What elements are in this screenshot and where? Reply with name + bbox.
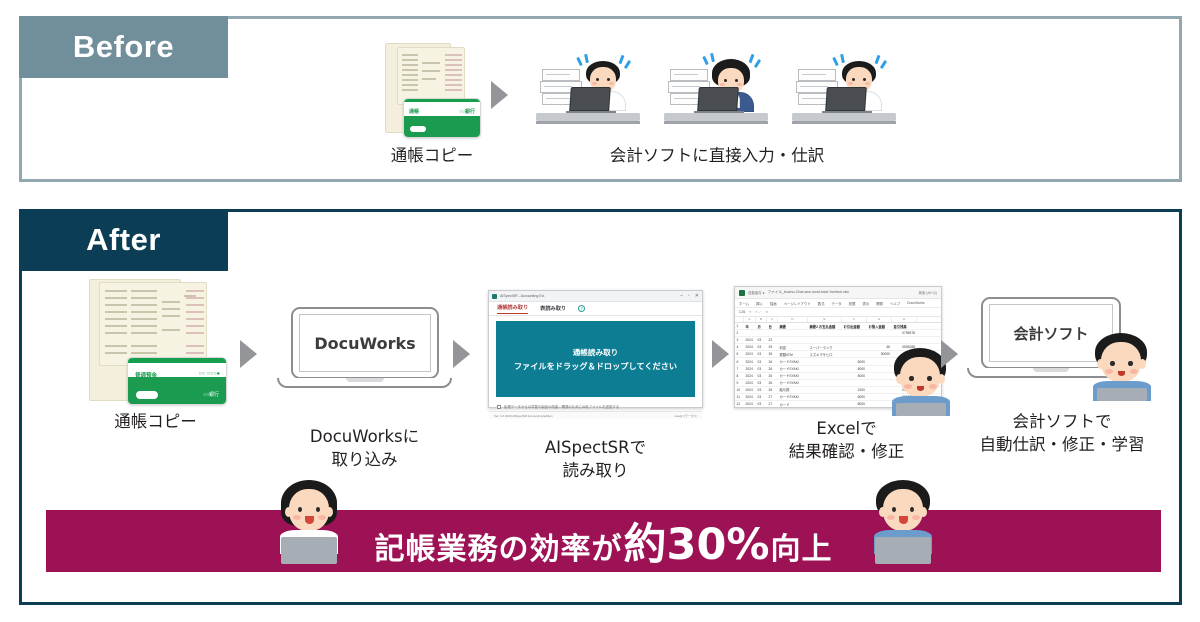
excel-row-number[interactable]: 2 xyxy=(735,331,744,335)
triangle-right-icon-3 xyxy=(712,340,729,368)
close-icon[interactable]: ✕ xyxy=(695,293,699,299)
excel-cell[interactable]: 26 xyxy=(767,367,778,371)
tab-table-read[interactable]: 表読み取り xyxy=(540,305,566,312)
dropzone-line2: ファイルをドラッグ＆ドロップしてください xyxy=(514,360,677,372)
excel-cell[interactable]: 2024 xyxy=(744,352,756,356)
excel-column-header[interactable]: B xyxy=(756,317,767,322)
excel-data-row[interactable]: 20755578 xyxy=(735,330,941,337)
tired-worker-1 xyxy=(534,53,644,133)
result-banner: 記帳業務の効率が 約30% 向上 xyxy=(46,510,1161,572)
excel-cell[interactable]: 26 xyxy=(767,374,778,378)
excel-cell[interactable]: 2200 xyxy=(842,388,867,392)
triangle-right-icon xyxy=(491,81,508,109)
window-controls[interactable]: – ▫ ✕ xyxy=(680,293,699,299)
excel-cell[interactable]: 2024 xyxy=(744,360,756,364)
excel-column-header[interactable]: D xyxy=(778,317,808,322)
send-data-checkbox[interactable] xyxy=(497,405,501,409)
excel-cell[interactable]: 8000 xyxy=(842,367,867,371)
excel-cell[interactable]: スーパーランク xyxy=(808,345,842,350)
excel-search-box[interactable]: 検索 (Alt+Q) xyxy=(918,290,937,295)
excel-cell[interactable]: 振替ATM xyxy=(778,352,808,357)
ribbon-tab-4[interactable]: 数式 xyxy=(818,301,825,306)
banner-number: 約30% xyxy=(623,510,771,572)
excel-row-number[interactable]: 3 xyxy=(735,338,744,342)
excel-header-cell[interactable]: 差引残高 xyxy=(892,324,917,329)
aispectsr-tabs[interactable]: 通帳読み取り 表読み取り ? xyxy=(489,302,702,316)
tired-worker-2 xyxy=(662,53,772,133)
excel-cell[interactable]: 03 xyxy=(756,352,767,356)
after-panel: After xyxy=(19,209,1182,605)
excel-cell[interactable]: カードSYAKI xyxy=(778,394,808,399)
excel-cell[interactable]: 25 xyxy=(767,345,778,349)
excel-cell[interactable]: 2024 xyxy=(744,367,756,371)
excel-cell[interactable]: 03 xyxy=(756,360,767,364)
person-using-accounting-software xyxy=(1085,333,1160,399)
before-caption-1: 会計ソフトに直接入力・仕訳 xyxy=(610,145,825,168)
excel-cell[interactable]: カードSYAKI xyxy=(778,380,808,385)
bank-card-illustration-2: 普通預金 ○○ ○○○● ○○銀行 xyxy=(127,357,227,405)
ribbon-tab-7[interactable]: 表示 xyxy=(862,301,869,306)
excel-cell[interactable]: 利息 xyxy=(778,345,808,350)
excel-column-header[interactable]: F xyxy=(842,317,867,322)
aispectsr-window[interactable]: AISpectSR - Accounting Ed. – ▫ ✕ 通帳読み取り … xyxy=(488,290,703,408)
banner-man-with-laptop xyxy=(872,480,934,572)
before-caption-0: 通帳コピー xyxy=(391,145,474,168)
excel-cell[interactable]: 8000 xyxy=(842,374,867,378)
excel-cell[interactable]: 2024 xyxy=(744,388,756,392)
excel-cell[interactable]: 26 xyxy=(767,352,778,356)
autosave-toggle[interactable]: 自動保存 ● xyxy=(748,290,765,295)
excel-cell[interactable]: 2024 xyxy=(744,381,756,385)
excel-data-row[interactable]: 320240322 xyxy=(735,337,941,344)
tired-worker-3 xyxy=(790,53,900,133)
excel-cell[interactable]: 8000 xyxy=(842,402,867,406)
excel-row-number[interactable]: 8 xyxy=(735,374,744,378)
excel-logo-icon xyxy=(739,290,745,296)
excel-row-number[interactable]: 5 xyxy=(735,352,744,356)
ribbon-tab-10[interactable]: DocuWorks xyxy=(907,301,924,305)
ribbon-tab-3[interactable]: ページレイアウト xyxy=(784,301,811,306)
after-step-excel: 自動保存 ● ファイル_tsucho-Chat-sew-word-total-Y… xyxy=(734,286,959,464)
banner-text: 記帳業務の効率が 約30% 向上 xyxy=(375,510,833,572)
excel-cell[interactable]: 2024 xyxy=(744,338,756,342)
excel-header-cell[interactable]: お引出金額 xyxy=(842,324,867,329)
after-step-passbook: 普通預金 ○○ ○○○● ○○銀行 通帳コピー xyxy=(78,279,233,434)
excel-row-number[interactable]: 11 xyxy=(735,395,744,399)
excel-cell[interactable]: 26 xyxy=(767,381,778,385)
excel-cell[interactable]: 27 xyxy=(767,402,778,406)
ribbon-tab-1[interactable]: 挿入 xyxy=(756,301,763,306)
excel-cell[interactable]: 03 xyxy=(756,374,767,378)
banner-woman-with-laptop xyxy=(278,480,340,572)
excel-cell[interactable]: カード xyxy=(778,402,808,407)
excel-cell[interactable]: 03 xyxy=(756,338,767,342)
ribbon-tab-2[interactable]: 描画 xyxy=(770,301,777,306)
excel-titlebar: 自動保存 ● ファイル_tsucho-Chat-sew-word-total-Y… xyxy=(735,287,941,299)
ribbon-tab-9[interactable]: ヘルプ xyxy=(890,301,900,306)
ribbon-tab-6[interactable]: 校閲 xyxy=(849,301,856,306)
three-tired-workers-illustration xyxy=(534,53,900,133)
excel-column-header[interactable]: C xyxy=(767,317,778,322)
triangle-right-icon-4 xyxy=(941,340,958,368)
excel-row-number[interactable]: 9 xyxy=(735,381,744,385)
excel-cell[interactable]: 03 xyxy=(756,395,767,399)
app-logo-icon xyxy=(492,294,497,299)
after-caption-0: 通帳コピー xyxy=(114,411,197,434)
excel-formula-bar[interactable]: C26 ▾ ✕ ✓ fx xyxy=(735,308,941,317)
aispectsr-footer[interactable]: 処理データからの学習や製品の改善・開発のためにAI用ファイルを送信する xyxy=(489,402,702,411)
excel-cell[interactable]: スズキマサヒロ xyxy=(808,352,842,357)
laptop-screen-label-docuworks: DocuWorks xyxy=(314,334,415,353)
excel-cell[interactable]: カードSYAKI xyxy=(778,359,808,364)
excel-ribbon-tabs[interactable]: ホーム 挿入 描画 ページレイアウト 数式 データ 校閲 表示 開発 ヘルプ D… xyxy=(735,299,941,308)
passbook-page-front-2 xyxy=(99,282,207,366)
excel-column-header[interactable]: A xyxy=(744,317,756,322)
excel-column-header[interactable]: G xyxy=(867,317,892,322)
dropzone-line1: 通帳読み取り xyxy=(573,347,619,358)
laptop-illustration-docuworks: DocuWorks xyxy=(277,307,452,392)
before-step-passbook: 通帳 ○○銀行 通帳コピー xyxy=(362,43,502,168)
after-step-docuworks: DocuWorks DocuWorksに 取り込み xyxy=(277,307,452,472)
excel-header-cell[interactable]: 月 xyxy=(756,324,767,329)
excel-cell[interactable]: 03 xyxy=(756,345,767,349)
excel-cell[interactable]: 03 xyxy=(756,388,767,392)
status-left: Ver. 1.0 2023 AISpectSR Accounting Editi… xyxy=(494,414,553,418)
after-caption-3: Excelで 結果確認・修正 xyxy=(789,418,905,464)
excel-header-cell[interactable]: 摘要 xyxy=(778,324,808,329)
tab-passbook-read[interactable]: 通帳読み取り xyxy=(497,304,528,314)
ribbon-tab-0[interactable]: ホーム xyxy=(739,301,749,306)
excel-cell[interactable]: 03 xyxy=(756,367,767,371)
excel-cell[interactable]: 27 xyxy=(767,395,778,399)
file-dropzone[interactable]: 通帳読み取り ファイルをドラッグ＆ドロップしてください xyxy=(496,321,695,397)
excel-header-cell[interactable]: 日 xyxy=(767,324,778,329)
excel-row-number[interactable]: 4 xyxy=(735,345,744,349)
after-caption-2: AISpectSRで 読み取り xyxy=(545,437,646,483)
after-caption-1: DocuWorksに 取り込み xyxy=(310,426,419,472)
status-right: readyステータス xyxy=(674,414,697,418)
excel-row-number[interactable]: 12 xyxy=(735,402,744,406)
excel-corner-cell[interactable] xyxy=(735,317,744,322)
excel-cell[interactable]: 2024 xyxy=(744,374,756,378)
triangle-right-icon-2 xyxy=(453,340,470,368)
excel-cell[interactable]: 03 xyxy=(756,402,767,406)
after-step-accounting: 会計ソフト xyxy=(967,297,1157,457)
excel-header-cell[interactable]: 年 xyxy=(744,324,756,329)
minimize-icon[interactable]: – xyxy=(680,293,683,299)
excel-cell[interactable]: 2024 xyxy=(744,395,756,399)
help-circle-icon[interactable]: ? xyxy=(578,305,585,312)
aispectsr-titlebar: AISpectSR - Accounting Ed. – ▫ ✕ xyxy=(489,291,702,302)
excel-cell[interactable]: 26 xyxy=(767,388,778,392)
infographic-page: Before xyxy=(0,0,1200,622)
triangle-right-icon-1 xyxy=(240,340,257,368)
excel-header-cell[interactable]: 摘要2 お支払金額 xyxy=(808,324,842,329)
excel-cell[interactable]: 2024 xyxy=(744,345,756,349)
banner-text-before: 記帳業務の効率が xyxy=(375,524,623,568)
aispectsr-statusbar: Ver. 1.0 2023 AISpectSR Accounting Editi… xyxy=(489,411,702,419)
before-panel: Before xyxy=(19,16,1182,182)
ribbon-tab-8[interactable]: 開発 xyxy=(876,301,883,306)
excel-column-header[interactable]: E xyxy=(808,317,842,322)
excel-cell[interactable]: カードSYAKI xyxy=(778,366,808,371)
passbook-copy-illustration: 通帳 ○○銀行 xyxy=(377,43,487,138)
excel-cell[interactable]: 8000 xyxy=(842,360,867,364)
before-step-manual-entry: 会計ソフトに直接入力・仕訳 xyxy=(527,53,907,168)
excel-cell[interactable]: 0755578 xyxy=(892,331,917,335)
laptop-screen-label-accounting: 会計ソフト xyxy=(1013,323,1088,344)
excel-name-box[interactable]: C26 xyxy=(739,310,745,314)
excel-file-path: ファイル_tsucho-Chat-sew-word-total-Yomitori… xyxy=(768,290,850,295)
excel-header-cell[interactable]: お預入金額 xyxy=(867,324,892,329)
excel-cell[interactable]: 2024 xyxy=(744,402,756,406)
excel-header-row: 1年月日摘要摘要2 お支払金額お引出金額お預入金額差引残高 xyxy=(735,323,941,330)
excel-cell[interactable]: カードSYAKI xyxy=(778,373,808,378)
excel-cell[interactable]: 給与振 xyxy=(778,387,808,392)
after-caption-4: 会計ソフトで 自動仕訳・修正・学習 xyxy=(980,411,1145,457)
excel-row-number[interactable]: 7 xyxy=(735,367,744,371)
before-label: Before xyxy=(19,16,228,78)
aispectsr-title: AISpectSR - Accounting Ed. xyxy=(500,294,545,298)
send-data-label: 処理データからの学習や製品の改善・開発のためにAI用ファイルを送信する xyxy=(504,404,619,409)
excel-cell[interactable]: 8000 xyxy=(842,395,867,399)
excel-cell[interactable]: 03 xyxy=(756,381,767,385)
excel-cell[interactable]: 22 xyxy=(767,338,778,342)
passbook-copy-illustration-2: 普通預金 ○○ ○○○● ○○銀行 xyxy=(83,279,228,404)
after-step-aispectsr: AISpectSR - Accounting Ed. – ▫ ✕ 通帳読み取り … xyxy=(483,290,708,483)
passbook-page-front xyxy=(397,47,465,105)
maximize-icon[interactable]: ▫ xyxy=(688,293,690,299)
excel-column-header[interactable]: H xyxy=(892,317,917,322)
excel-row-number[interactable]: 6 xyxy=(735,360,744,364)
laptop-screen-docuworks: DocuWorks xyxy=(299,314,431,372)
excel-row-number[interactable]: 1 xyxy=(735,324,744,328)
excel-row-number[interactable]: 10 xyxy=(735,388,744,392)
excel-cell[interactable]: 26 xyxy=(767,360,778,364)
after-label: After xyxy=(19,209,228,271)
ribbon-tab-5[interactable]: データ xyxy=(831,301,841,306)
bank-card-illustration: 通帳 ○○銀行 xyxy=(403,98,481,138)
banner-text-after: 向上 xyxy=(770,524,832,568)
